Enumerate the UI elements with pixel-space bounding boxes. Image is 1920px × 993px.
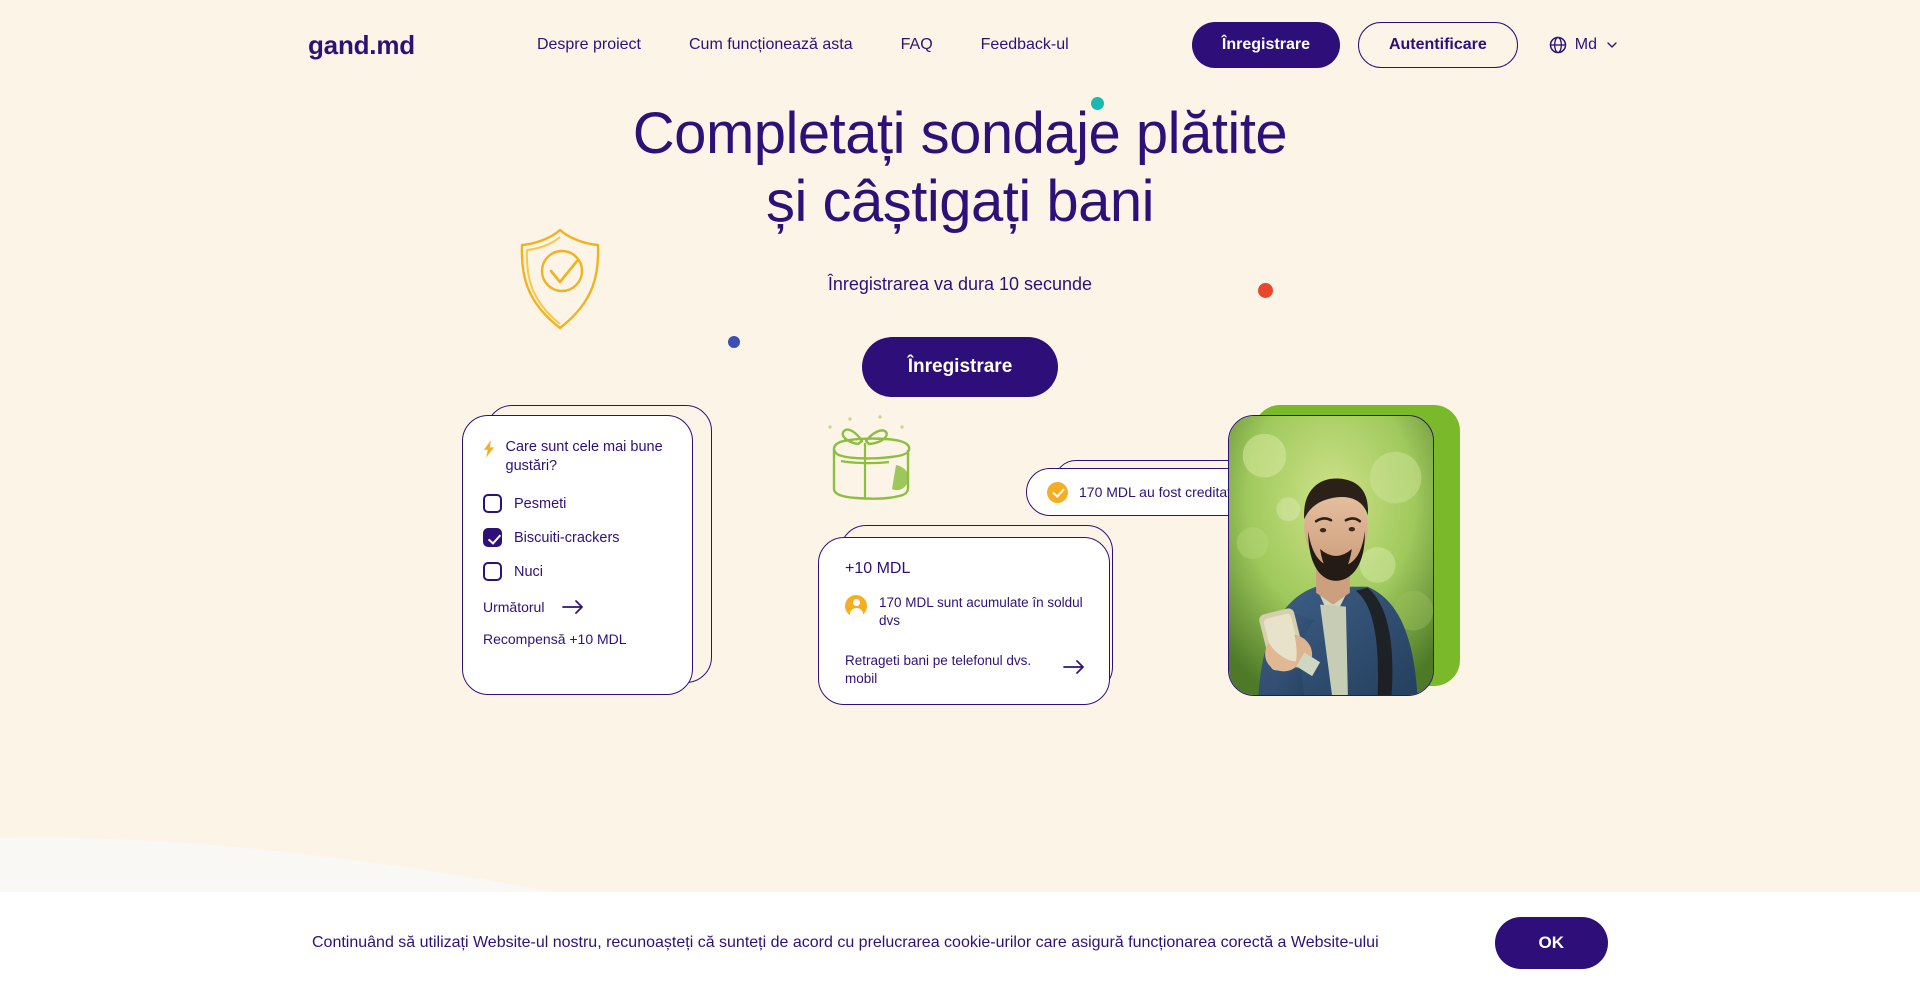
- globe-icon: [1548, 35, 1568, 55]
- survey-question-row: Care sunt cele mai bune gustări?: [483, 438, 672, 476]
- page-title-line2: și câștigați bani: [0, 168, 1920, 236]
- teal-dot-icon: [1091, 97, 1104, 110]
- balance-info-row: 170 MDL sunt acumulate în soldul dvs: [845, 594, 1085, 630]
- user-avatar-icon: [845, 595, 867, 617]
- photo-card: [1228, 415, 1434, 696]
- cookie-banner-text: Continuând să utilizați Website-ul nostr…: [312, 932, 1379, 954]
- survey-next-button[interactable]: Următorul: [483, 599, 672, 615]
- withdraw-money-link[interactable]: Retrageti bani pe telefonul dvs. mobil: [845, 652, 1085, 688]
- header-login-button[interactable]: Autentificare: [1358, 22, 1518, 68]
- language-value: Md: [1575, 36, 1597, 54]
- hero-register-button[interactable]: Înregistrare: [862, 337, 1059, 397]
- red-dot-icon: [1258, 283, 1273, 298]
- page-title-line1: Completați sondaje plătite: [0, 100, 1920, 168]
- survey-option-nuci[interactable]: Nuci: [483, 562, 672, 581]
- survey-option-label: Pesmeti: [514, 496, 566, 512]
- survey-question-text: Care sunt cele mai bune gustări?: [506, 438, 672, 476]
- nav-item-faq[interactable]: FAQ: [901, 36, 933, 54]
- shield-check-icon: [512, 225, 608, 333]
- page-title: Completați sondaje plătite și câștigați …: [0, 100, 1920, 237]
- toast-text: 170 MDL au fost creditate: [1079, 484, 1239, 500]
- checkbox-unchecked-icon[interactable]: [483, 494, 502, 513]
- lightning-bolt-icon: [483, 438, 496, 460]
- checkbox-checked-icon[interactable]: [483, 528, 502, 547]
- man-with-phone-photo: [1229, 416, 1433, 695]
- survey-card: Care sunt cele mai bune gustări? Pesmeti…: [462, 415, 693, 695]
- cookie-accept-button[interactable]: OK: [1495, 917, 1609, 969]
- language-selector[interactable]: Md: [1548, 35, 1620, 55]
- gift-box-icon: [818, 413, 922, 511]
- main-navigation: Despre proiect Cum funcționează asta FAQ…: [537, 36, 1069, 54]
- checkbox-unchecked-icon[interactable]: [483, 562, 502, 581]
- landing-page: gand.md Despre proiect Cum funcționează …: [0, 0, 1920, 993]
- blue-dot-icon: [728, 336, 740, 348]
- survey-option-label: Nuci: [514, 564, 543, 580]
- survey-next-label: Următorul: [483, 599, 544, 615]
- header-register-button[interactable]: Înregistrare: [1192, 22, 1340, 68]
- balance-info-text: 170 MDL sunt acumulate în soldul dvs: [879, 594, 1085, 630]
- check-circle-icon: [1047, 482, 1068, 503]
- logo[interactable]: gand.md: [308, 30, 415, 61]
- arrow-right-icon: [1063, 660, 1085, 674]
- nav-item-cum-functioneaza[interactable]: Cum funcționează asta: [689, 36, 853, 54]
- chevron-down-icon: [1604, 37, 1620, 53]
- balance-amount: +10 MDL: [845, 560, 1085, 578]
- survey-option-biscuiti-crackers[interactable]: Biscuiti-crackers: [483, 528, 672, 547]
- site-header: gand.md Despre proiect Cum funcționează …: [0, 0, 1920, 90]
- hero-cta-container: Înregistrare: [0, 337, 1920, 397]
- survey-reward-label: Recompensă +10 MDL: [483, 631, 672, 647]
- nav-item-despre-proiect[interactable]: Despre proiect: [537, 36, 641, 54]
- header-actions: Înregistrare Autentificare Md: [1192, 22, 1620, 68]
- cookie-banner: Continuând să utilizați Website-ul nostr…: [0, 892, 1920, 993]
- survey-option-label: Biscuiti-crackers: [514, 530, 620, 546]
- balance-card: +10 MDL 170 MDL sunt acumulate în soldul…: [818, 537, 1110, 705]
- withdraw-money-text: Retrageti bani pe telefonul dvs. mobil: [845, 652, 1053, 688]
- photo-card-group: [1228, 405, 1460, 695]
- balance-card-group: +10 MDL 170 MDL sunt acumulate în soldul…: [818, 525, 1113, 705]
- nav-item-feedback[interactable]: Feedback-ul: [981, 36, 1069, 54]
- survey-option-pesmeti[interactable]: Pesmeti: [483, 494, 672, 513]
- survey-card-group: Care sunt cele mai bune gustări? Pesmeti…: [462, 405, 712, 695]
- arrow-right-icon: [562, 600, 584, 614]
- hero-subtitle: Înregistrarea va dura 10 secunde: [0, 274, 1920, 295]
